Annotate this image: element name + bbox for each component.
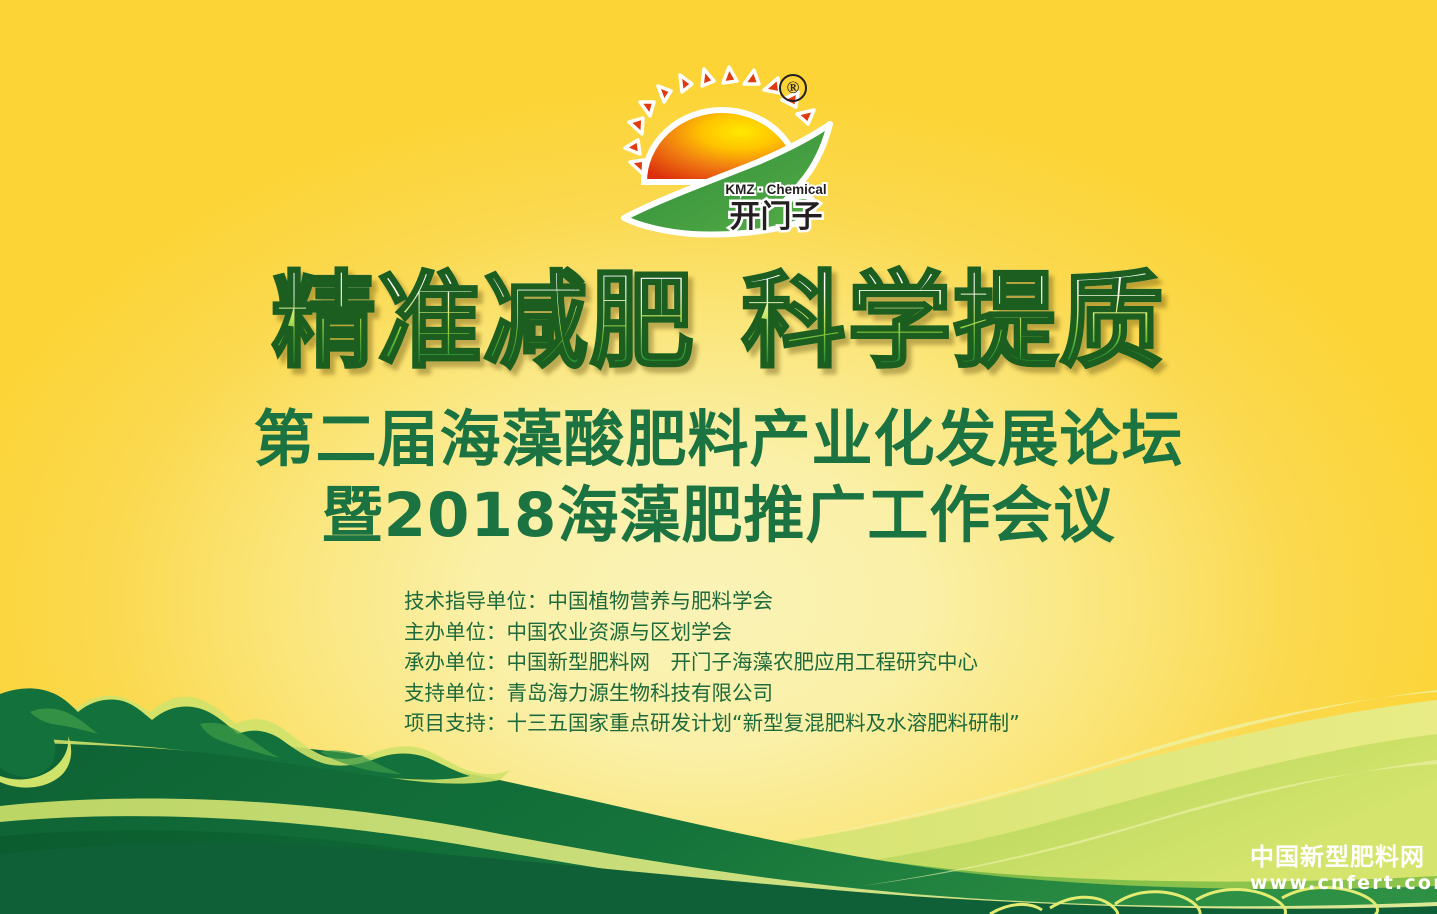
credits-block: 技术指导单位：中国植物营养与肥料学会 主办单位：中国农业资源与区划学会 承办单位… xyxy=(404,586,1020,739)
headline-part-1: 精准减肥 xyxy=(271,268,695,374)
credit-line-project-support: 项目支持：十三五国家重点研发计划“新型复混肥料及水溶肥料研制” xyxy=(404,708,1020,739)
logo-brand-cn: 开门子 xyxy=(730,199,823,235)
poster-headline: 精准减肥科学提质 xyxy=(0,268,1437,374)
watermark-url: www.cnfert.com xyxy=(1250,871,1437,895)
poster-canvas: KMZ · Chemical 开门子 ® 精准减肥科学提质 第二届海藻酸肥料产业… xyxy=(0,0,1437,914)
headline-part-2: 科学提质 xyxy=(742,268,1166,374)
subtitle-line-2: 暨2018海藻肥推广工作会议 xyxy=(0,482,1437,550)
credit-line-co-organizer: 承办单位：中国新型肥料网 开门子海藻农肥应用工程研究中心 xyxy=(404,647,1020,678)
credit-line-technical-guidance: 技术指导单位：中国植物营养与肥料学会 xyxy=(404,586,1020,617)
watermark-site-name: 中国新型肥料网 xyxy=(1250,843,1437,871)
subtitle-line-1: 第二届海藻酸肥料产业化发展论坛 xyxy=(0,406,1437,474)
company-logo: KMZ · Chemical 开门子 xyxy=(618,62,848,242)
poster-subtitle: 第二届海藻酸肥料产业化发展论坛 暨2018海藻肥推广工作会议 xyxy=(0,406,1437,551)
registered-trademark-icon: ® xyxy=(779,74,807,102)
logo-brand-latin: KMZ · Chemical xyxy=(725,182,826,197)
site-watermark: 中国新型肥料网 www.cnfert.com xyxy=(1250,843,1437,895)
credit-line-organizer: 主办单位：中国农业资源与区划学会 xyxy=(404,617,1020,648)
credit-line-supporter: 支持单位：青岛海力源生物科技有限公司 xyxy=(404,678,1020,709)
